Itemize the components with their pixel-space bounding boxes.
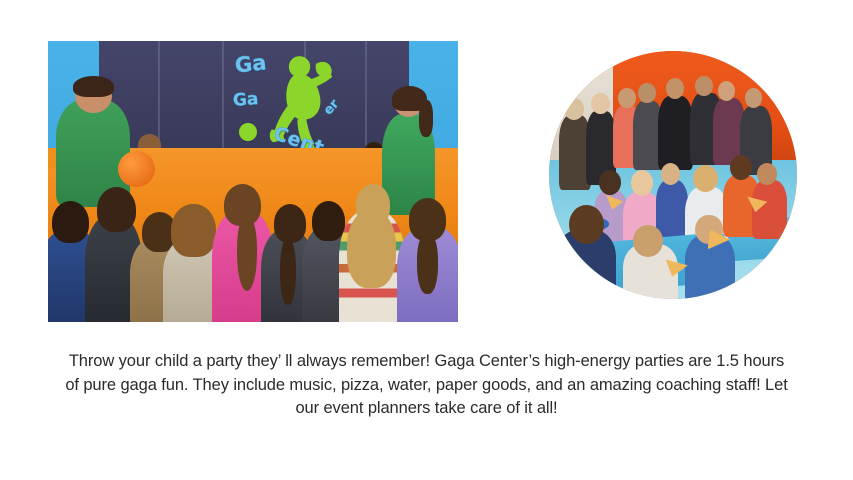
slide-canvas: Ga Ga Cent er bbox=[0, 0, 853, 480]
party-child-head bbox=[661, 163, 681, 185]
party-child-head bbox=[569, 205, 604, 245]
seated-child-ponytail bbox=[237, 215, 258, 291]
party-child-head bbox=[599, 170, 621, 195]
caption-line-1: Throw your child a party they’ ll always… bbox=[69, 352, 684, 370]
seated-child-head bbox=[274, 204, 307, 243]
left-photo: Ga Ga Cent er bbox=[48, 41, 458, 322]
party-description: Throw your child a party they’ ll always… bbox=[60, 350, 793, 421]
seated-child-head bbox=[52, 201, 89, 243]
party-adult-head bbox=[718, 81, 735, 101]
party-child bbox=[656, 180, 688, 240]
logo-text-ga-1: Ga bbox=[234, 53, 267, 77]
party-room-scene bbox=[549, 51, 797, 299]
party-adult-head bbox=[591, 93, 610, 114]
seated-child-head bbox=[312, 201, 345, 240]
party-child-head bbox=[757, 163, 777, 185]
right-photo-circle bbox=[549, 51, 797, 299]
party-adult-head bbox=[564, 98, 584, 120]
seated-child-head bbox=[409, 198, 446, 240]
seated-child-ponytail bbox=[417, 232, 438, 294]
logo-ball-dot bbox=[239, 123, 257, 141]
party-child-head bbox=[693, 165, 718, 192]
instructor-right-ponytail bbox=[419, 100, 433, 137]
logo-text-ga-2: Ga bbox=[232, 91, 259, 110]
gaga-ball bbox=[118, 151, 155, 188]
seated-child-head bbox=[224, 184, 261, 226]
party-child-head bbox=[631, 170, 653, 196]
gaga-arena-scene: Ga Ga Cent er bbox=[48, 41, 458, 322]
party-adult-head bbox=[618, 88, 635, 108]
party-child-head bbox=[633, 225, 663, 257]
party-adult bbox=[658, 96, 693, 170]
party-adult-head bbox=[638, 83, 655, 103]
seated-child-head bbox=[97, 187, 136, 232]
party-adult-head bbox=[695, 76, 712, 96]
seated-child-ponytail bbox=[280, 238, 296, 305]
seated-child-head bbox=[171, 204, 216, 257]
instructor-left-hair bbox=[73, 76, 114, 97]
seated-child-head bbox=[356, 184, 391, 226]
